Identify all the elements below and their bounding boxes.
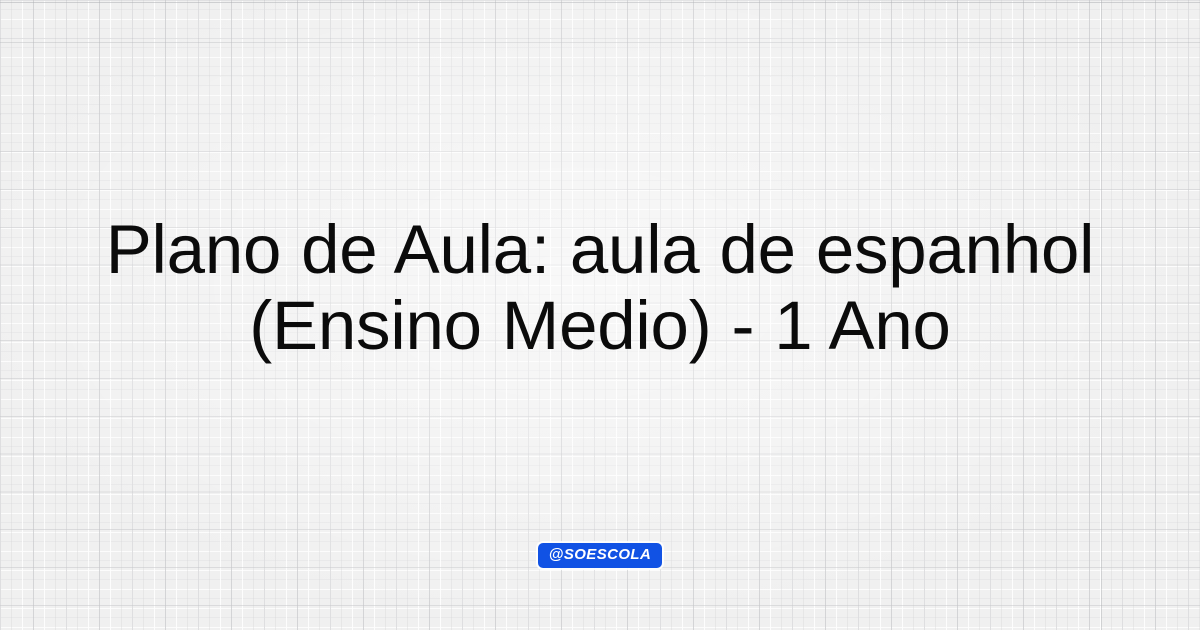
title-line-1: Plano de Aula: aula de espanhol	[106, 211, 1095, 288]
title-heading: Plano de Aula: aula de espanhol (Ensino …	[60, 212, 1140, 364]
title-line-2: (Ensino Medio) - 1 Ano	[249, 287, 950, 364]
handle-badge[interactable]: @SOESCOLA	[538, 543, 662, 568]
page-title: Plano de Aula: aula de espanhol (Ensino …	[60, 212, 1140, 364]
og-share-card: Plano de Aula: aula de espanhol (Ensino …	[0, 0, 1200, 630]
handle-badge-container: @SOESCOLA	[0, 543, 1200, 568]
